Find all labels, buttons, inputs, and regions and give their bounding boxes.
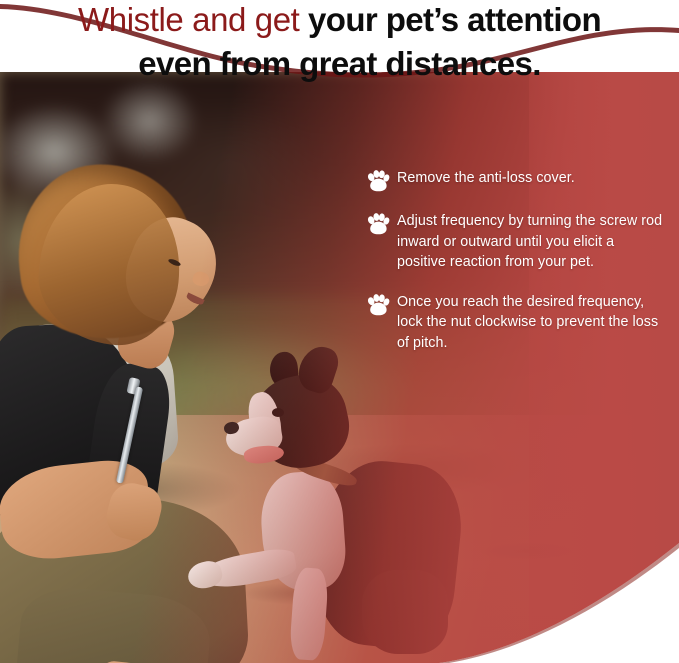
paw-print-icon [366, 213, 390, 235]
headline-highlight: Whistle and get [78, 1, 299, 38]
list-item: Remove the anti-loss cover. [366, 168, 666, 192]
headline-line-1: Whistle and get your pet’s attention [0, 1, 679, 45]
list-item: Once you reach the desired frequency, lo… [366, 292, 666, 354]
headline-line-2: even from great distances. [0, 45, 679, 89]
page-title: Whistle and get your pet’s attention eve… [0, 0, 679, 78]
promo-image: Whistle and get your pet’s attention eve… [0, 0, 679, 663]
list-item: Adjust frequency by turning the screw ro… [366, 211, 666, 273]
instruction-list: Remove the anti-loss cover. Adjust frequ… [366, 168, 666, 373]
headline-line-2-text: even from great distances. [138, 45, 541, 82]
paw-print-icon [366, 294, 390, 316]
list-item-label: Adjust frequency by turning the screw ro… [397, 211, 666, 273]
list-item-label: Remove the anti-loss cover. [397, 168, 575, 189]
headline-rest: your pet’s attention [299, 1, 601, 38]
paw-print-icon [366, 170, 390, 192]
list-item-label: Once you reach the desired frequency, lo… [397, 292, 666, 354]
